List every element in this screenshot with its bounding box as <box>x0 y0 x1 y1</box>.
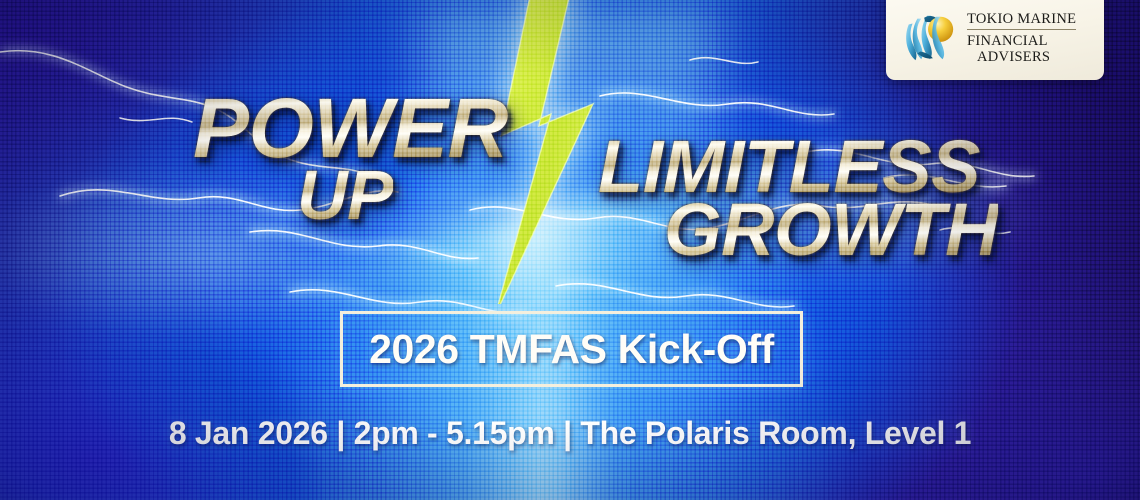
event-banner: POWER POWER UP UP LIMITLESS LIMITLESS GR… <box>0 0 1140 500</box>
tokio-marine-logo-card: TOKIO MARINE FINANCIAL ADVISERS <box>886 0 1104 80</box>
tokio-marine-globe-ribbon-logo <box>898 9 960 67</box>
logo-division-line1: FINANCIAL <box>967 33 1076 49</box>
logo-wordmark: TOKIO MARINE FINANCIAL ADVISERS <box>967 11 1076 66</box>
logo-divider-rule <box>967 29 1076 30</box>
logo-division-line2: ADVISERS <box>967 49 1076 65</box>
logo-company-name: TOKIO MARINE <box>967 11 1076 27</box>
